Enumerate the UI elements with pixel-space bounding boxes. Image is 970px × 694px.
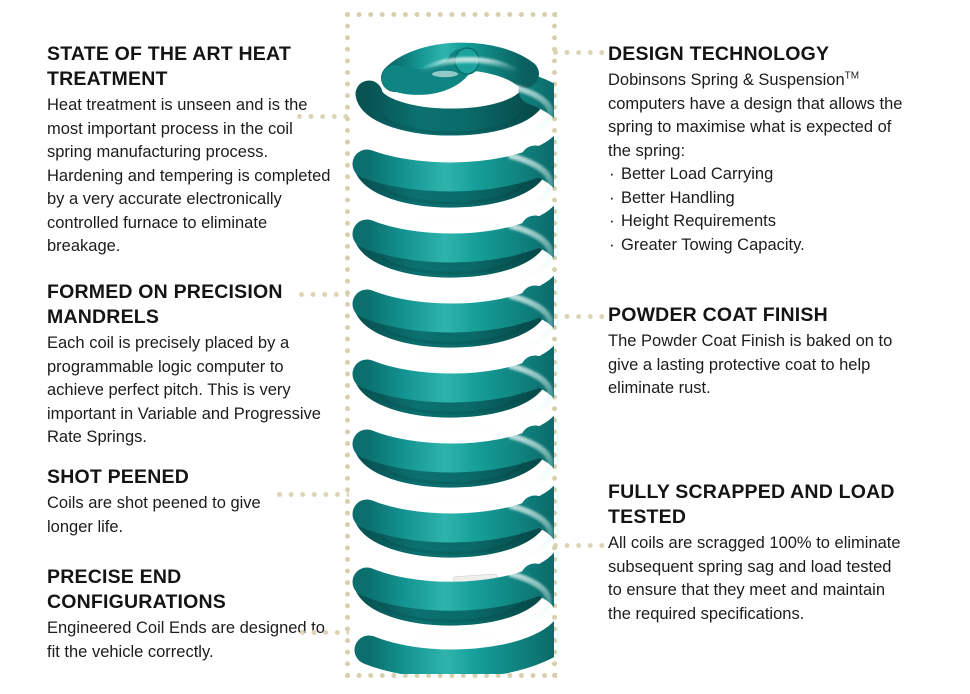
connector-leader-design-technology: [553, 50, 605, 55]
feature-body-design-technology: Dobinsons Spring & SuspensionTM computer…: [608, 69, 908, 163]
infographic-page: STATE OF THE ART HEAT TREATMENT Heat tre…: [0, 0, 970, 694]
feature-body-precision-mandrels: Each coil is precisely placed by a progr…: [47, 332, 327, 450]
trademark-symbol: TM: [845, 71, 859, 82]
list-item: Better Load Carrying: [608, 163, 908, 187]
connector-leader-powder-coat-finish: [553, 314, 605, 319]
feature-block-fully-scrapped-load-tested: FULLY SCRAPPED AND LOAD TESTED All coils…: [608, 480, 903, 626]
design-technology-benefits-list: Better Load Carrying Better Handling Hei…: [608, 163, 908, 257]
feature-heading-design-technology: DESIGN TECHNOLOGY: [608, 42, 908, 67]
feature-heading-shot-peened: SHOT PEENED: [47, 465, 307, 490]
feature-block-heat-treatment: STATE OF THE ART HEAT TREATMENT Heat tre…: [47, 42, 333, 259]
design-technology-body-suffix: computers have a design that allows the …: [608, 95, 902, 160]
connector-leader-precision-mandrels: [299, 292, 349, 297]
feature-heading-heat-treatment: STATE OF THE ART HEAT TREATMENT: [47, 42, 333, 92]
feature-block-precision-mandrels: FORMED ON PRECISION MANDRELS Each coil i…: [47, 280, 327, 450]
feature-block-shot-peened: SHOT PEENED Coils are shot peened to giv…: [47, 465, 307, 539]
list-item: Greater Towing Capacity.: [608, 234, 908, 258]
feature-body-powder-coat-finish: The Powder Coat Finish is baked on to gi…: [608, 330, 908, 401]
feature-body-heat-treatment: Heat treatment is unseen and is the most…: [47, 94, 333, 259]
feature-body-precise-end-configurations: Engineered Coil Ends are designed to fit…: [47, 617, 329, 664]
feature-block-precise-end-configurations: PRECISE END CONFIGURATIONS Engineered Co…: [47, 565, 329, 664]
connector-leader-fully-scrapped: [553, 543, 605, 548]
coil-spring-image: [349, 16, 554, 674]
feature-heading-fully-scrapped-load-tested: FULLY SCRAPPED AND LOAD TESTED: [608, 480, 903, 530]
feature-heading-precision-mandrels: FORMED ON PRECISION MANDRELS: [47, 280, 327, 330]
design-technology-body-prefix: Dobinsons Spring & Suspension: [608, 71, 845, 89]
connector-leader-precise-end-configurations: [300, 630, 349, 635]
feature-block-powder-coat-finish: POWDER COAT FINISH The Powder Coat Finis…: [608, 303, 908, 401]
connector-leader-heat-treatment: [297, 114, 349, 119]
feature-block-design-technology: DESIGN TECHNOLOGY Dobinsons Spring & Sus…: [608, 42, 908, 257]
list-item: Height Requirements: [608, 210, 908, 234]
feature-body-shot-peened: Coils are shot peened to give longer lif…: [47, 492, 307, 539]
feature-heading-precise-end-configurations: PRECISE END CONFIGURATIONS: [47, 565, 329, 615]
feature-heading-powder-coat-finish: POWDER COAT FINISH: [608, 303, 908, 328]
connector-leader-shot-peened: [277, 492, 349, 497]
list-item: Better Handling: [608, 187, 908, 211]
feature-body-fully-scrapped-load-tested: All coils are scragged 100% to eliminate…: [608, 532, 903, 626]
